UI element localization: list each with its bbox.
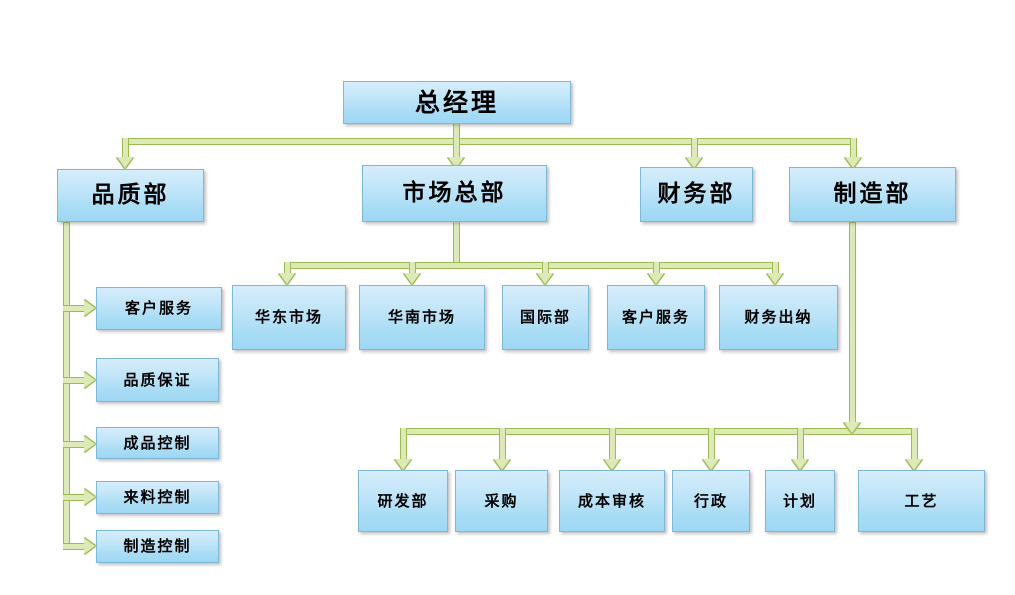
- arrowhead-mfg-child-5: [792, 459, 808, 470]
- node-mfg-child-rnd[interactable]: 研发部: [358, 470, 448, 532]
- node-general-manager[interactable]: 总经理: [343, 81, 571, 124]
- node-quality-department[interactable]: 品质部: [57, 169, 204, 222]
- arrowhead-market-child-3: [537, 273, 553, 284]
- arrowhead-market-child-1: [279, 273, 295, 284]
- arrowhead-quality-child-5: [84, 538, 95, 554]
- node-mfg-child-process[interactable]: 工艺: [858, 470, 985, 532]
- node-quality-child-incoming-material-control[interactable]: 来料控制: [96, 481, 219, 514]
- node-quality-child-finished-goods-control[interactable]: 成品控制: [96, 427, 219, 459]
- arrowhead-mfg-child-3: [604, 459, 620, 470]
- connector-quality-branch-2: [63, 377, 85, 384]
- node-manufacturing-department[interactable]: 制造部: [789, 167, 956, 222]
- connector-market-bus: [284, 262, 779, 269]
- connector-quality-branch-3: [63, 441, 85, 448]
- node-market-child-south-china[interactable]: 华南市场: [359, 285, 485, 350]
- arrowhead-mfg-child-1: [395, 459, 411, 470]
- arrowhead-manufacturing-trunk: [844, 422, 860, 433]
- node-market-child-customer-service[interactable]: 客户服务: [607, 285, 705, 350]
- arrowhead-mfg-child-4: [703, 459, 719, 470]
- connector-drop-mfg-5: [797, 428, 804, 461]
- connector-drop-quality: [122, 138, 129, 158]
- connector-drop-mfg-3: [609, 428, 616, 461]
- connector-drop-mfg-4: [708, 428, 715, 461]
- node-quality-child-customer-service[interactable]: 客户服务: [96, 287, 222, 330]
- connector-drop-mfg-2: [499, 428, 506, 461]
- node-market-child-east-china[interactable]: 华东市场: [232, 285, 346, 350]
- node-quality-child-quality-assurance[interactable]: 品质保证: [96, 358, 219, 402]
- connector-quality-branch-1: [63, 305, 85, 312]
- node-market-child-international[interactable]: 国际部: [502, 285, 589, 350]
- arrowhead-quality: [117, 157, 133, 168]
- node-quality-child-manufacturing-control[interactable]: 制造控制: [96, 530, 219, 563]
- connector-drop-mfg-6: [911, 428, 918, 461]
- connector-root-bus: [122, 138, 857, 145]
- connector-quality-branch-4: [63, 494, 85, 501]
- connector-market-stem: [453, 220, 460, 265]
- arrowhead-mfg-child-2: [494, 459, 510, 470]
- node-mfg-child-purchasing[interactable]: 采购: [455, 470, 548, 532]
- arrowhead-quality-child-4: [84, 489, 95, 505]
- connector-drop-market: [453, 138, 460, 158]
- node-mfg-child-cost-audit[interactable]: 成本审核: [559, 470, 665, 532]
- arrowhead-quality-child-3: [84, 436, 95, 452]
- connector-drop-manufacturing: [850, 138, 857, 158]
- connector-drop-mfg-1: [400, 428, 407, 461]
- node-mfg-child-administration[interactable]: 行政: [672, 470, 750, 532]
- arrowhead-market-child-2: [404, 273, 420, 284]
- arrowhead-market-child-4: [648, 273, 664, 284]
- connector-quality-branch-5: [63, 543, 85, 550]
- arrowhead-market-child-5: [767, 273, 783, 284]
- node-finance-department[interactable]: 财务部: [640, 167, 753, 222]
- node-market-headquarters[interactable]: 市场总部: [362, 165, 547, 222]
- connector-manufacturing-trunk: [849, 222, 856, 430]
- connector-drop-finance: [691, 138, 698, 158]
- node-market-child-finance-cashier[interactable]: 财务出纳: [719, 285, 838, 350]
- org-chart-canvas: 总经理 品质部 市场总部 财务部 制造部 客户服务 品质保证 成品控制 来料控制…: [0, 0, 1015, 595]
- arrowhead-quality-child-2: [84, 372, 95, 388]
- arrowhead-mfg-child-6: [906, 459, 922, 470]
- node-mfg-child-planning[interactable]: 计划: [765, 470, 835, 532]
- connector-manufacturing-bus: [400, 428, 918, 435]
- arrowhead-quality-child-1: [84, 300, 95, 316]
